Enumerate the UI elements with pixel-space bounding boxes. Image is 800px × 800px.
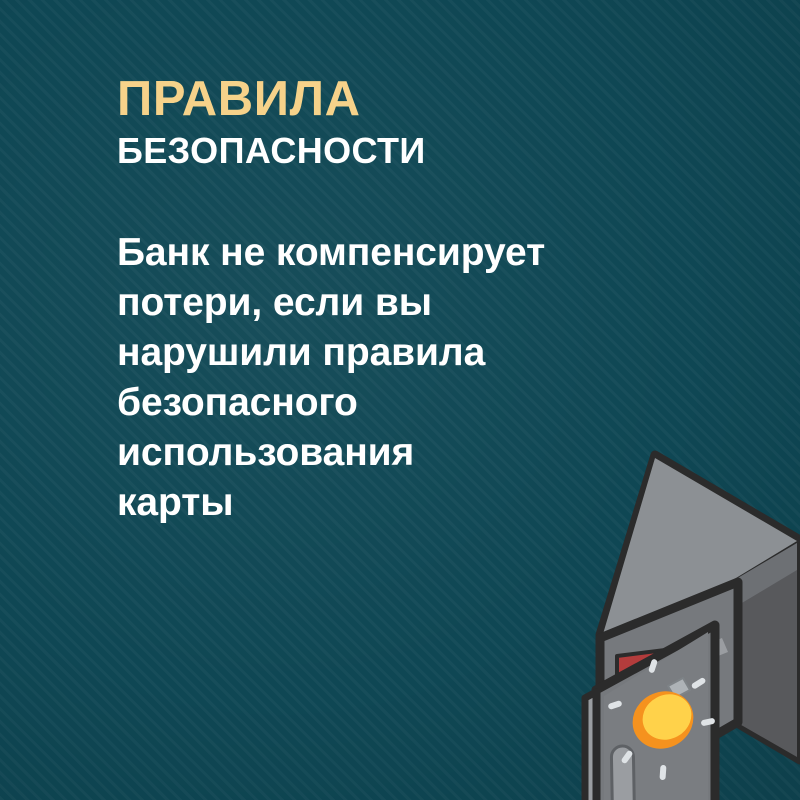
body-line: нарушили правила [117, 328, 677, 378]
body-line: карты [117, 478, 677, 528]
body-line: безопасного [117, 378, 677, 428]
page-title-primary: ПРАВИЛА [117, 72, 737, 126]
page-title-secondary: БЕЗОПАСНОСТИ [117, 130, 737, 172]
body-line: Банк не компенсирует [117, 228, 677, 278]
body-copy-block: Банк не компенсирует потери, если вы нар… [117, 228, 677, 528]
safe-door-edge [585, 692, 596, 800]
body-line: потери, если вы [117, 278, 677, 328]
body-line: использования [117, 428, 677, 478]
heading-block: ПРАВИЛА БЕЗОПАСНОСТИ [117, 72, 737, 172]
social-card-canvas: ПРАВИЛА БЕЗОПАСНОСТИ Банк не компенсируе… [0, 0, 800, 800]
